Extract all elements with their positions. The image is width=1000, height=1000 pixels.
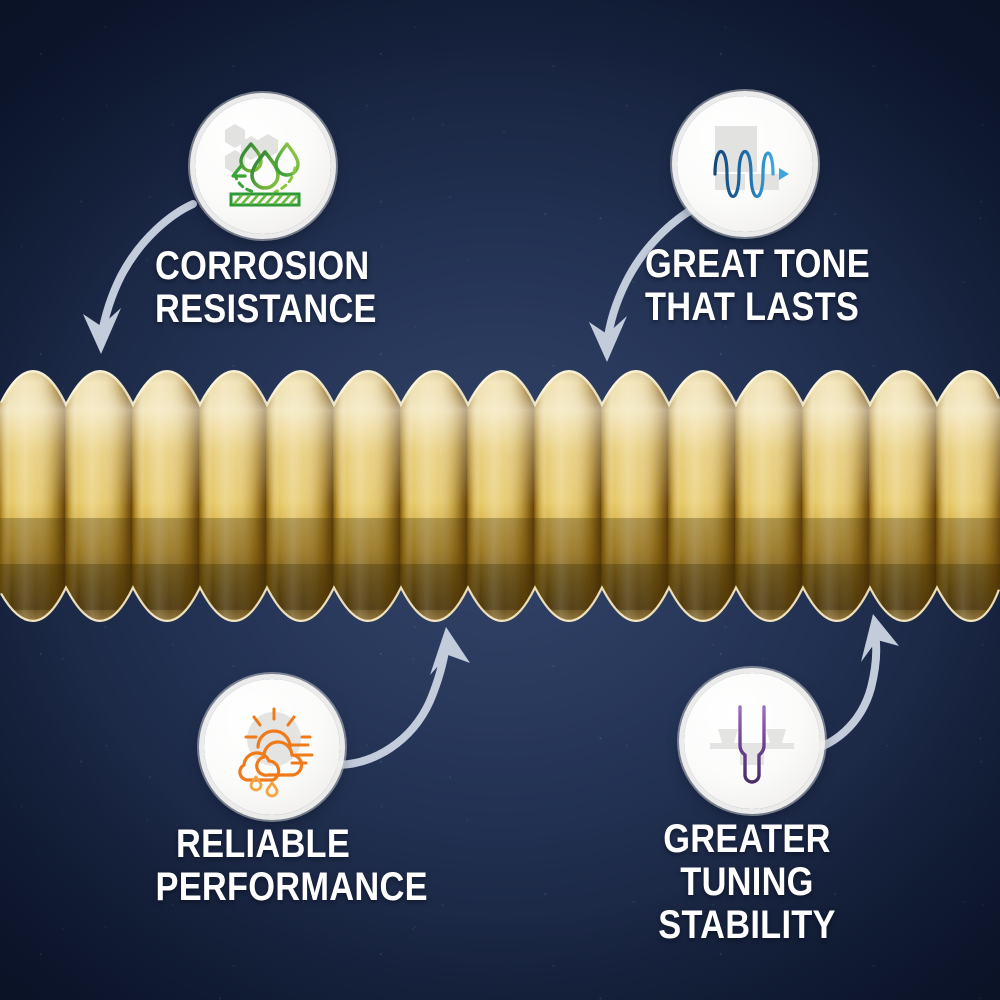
tuning-peg-watermark bbox=[710, 729, 794, 765]
hexagon-watermark bbox=[225, 124, 278, 174]
feature-label-tuning-stability: GREATER TUNING STABILITY bbox=[627, 818, 868, 946]
sun-cloud-rain-icon bbox=[220, 695, 324, 799]
feature-label-great-tone: GREAT TONE THAT LASTS bbox=[645, 243, 870, 329]
badge-reliable-performance bbox=[204, 679, 340, 815]
gold-guitar-string-photo bbox=[0, 368, 1000, 626]
badge-corrosion-resistance bbox=[195, 98, 331, 234]
badge-tuning-stability bbox=[684, 673, 820, 809]
infographic-canvas: CORROSION RESISTANCE GREAT TONE THAT LAS… bbox=[0, 0, 1000, 1000]
badge-great-tone bbox=[677, 96, 813, 232]
sound-waveform-icon bbox=[693, 112, 797, 216]
feature-label-reliable-performance: RELIABLE PERFORMANCE bbox=[156, 823, 371, 909]
arrow-reliable-to-string bbox=[330, 625, 480, 780]
tuning-fork-icon bbox=[700, 689, 804, 793]
feature-label-corrosion-resistance: CORROSION RESISTANCE bbox=[155, 245, 377, 331]
water-droplets-repelling-icon bbox=[211, 114, 315, 218]
